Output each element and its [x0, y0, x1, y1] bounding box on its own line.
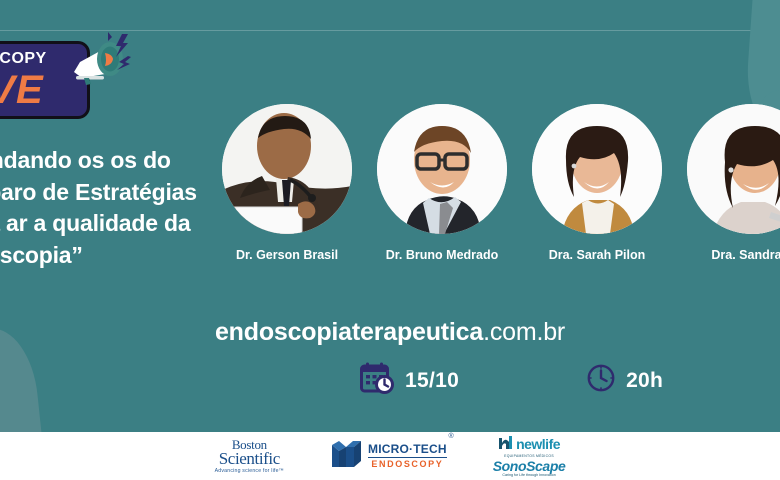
website-url[interactable]: endoscopiaterapeutica.com.br — [0, 318, 780, 347]
avatar — [222, 104, 352, 234]
micro-tech-mark-icon — [330, 437, 364, 476]
sponsor-logo-boston-scientific: Boston Scientific Advancing science for … — [215, 438, 284, 474]
speaker-name: Dr. Gerson Brasil — [222, 248, 352, 262]
boston-scientific-tagline: Advancing science for life™ — [215, 469, 284, 474]
sonoscape-name: SonoScape — [493, 459, 566, 473]
boston-scientific-line2: Scientific — [215, 450, 284, 467]
avatar — [687, 104, 780, 234]
micro-tech-rule — [368, 457, 447, 459]
newlife-name: newlife — [516, 437, 560, 451]
sonoscape-tagline: Caring for Life through Innovation — [493, 474, 566, 478]
micro-tech-name: MICRO·TECH — [368, 443, 447, 455]
calendar-clock-icon — [360, 362, 394, 399]
speaker-card: Dr. Gerson Brasil — [222, 104, 352, 262]
clock-icon — [587, 364, 615, 397]
newlife-mark-icon — [498, 435, 514, 454]
webinar-poster: OSCOPY IVE svendando os os do preparo de… — [0, 0, 780, 480]
event-time-text: 20h — [626, 369, 663, 393]
sponsor-logo-micro-tech: MICRO·TECH ENDOSCOPY ® — [330, 437, 447, 476]
speaker-name: Dra. Sarah Pilon — [532, 248, 662, 262]
speaker-card: Dr. Bruno Medrado — [377, 104, 507, 262]
event-date: 15/10 — [360, 362, 459, 399]
event-date-text: 15/10 — [405, 369, 459, 393]
speaker-card: Dra. Sandra F — [687, 104, 780, 262]
speakers-list: Dr. Gerson Brasil Dr. Bruno Medrado — [222, 104, 780, 262]
event-time: 20h — [587, 364, 663, 397]
event-meta: 15/10 20h — [360, 362, 690, 399]
micro-tech-sub: ENDOSCOPY — [368, 460, 447, 469]
avatar — [377, 104, 507, 234]
speaker-name: Dra. Sandra F — [687, 248, 780, 262]
sponsor-logo-newlife-sonoscape: newlife EQUIPAMENTOS MÉDICOS SonoScape C… — [493, 435, 566, 478]
micro-tech-registered-mark: ® — [449, 433, 454, 440]
speaker-card: Dra. Sarah Pilon — [532, 104, 662, 262]
speaker-name: Dr. Bruno Medrado — [377, 248, 507, 262]
website-bold-part: endoscopiaterapeutica — [215, 318, 483, 346]
page-title: svendando os os do preparo de Estratégia… — [0, 145, 222, 272]
avatar — [532, 104, 662, 234]
megaphone-icon — [72, 26, 138, 94]
website-tld-part: .com.br — [483, 318, 565, 346]
sponsor-footer: Boston Scientific Advancing science for … — [0, 432, 780, 480]
